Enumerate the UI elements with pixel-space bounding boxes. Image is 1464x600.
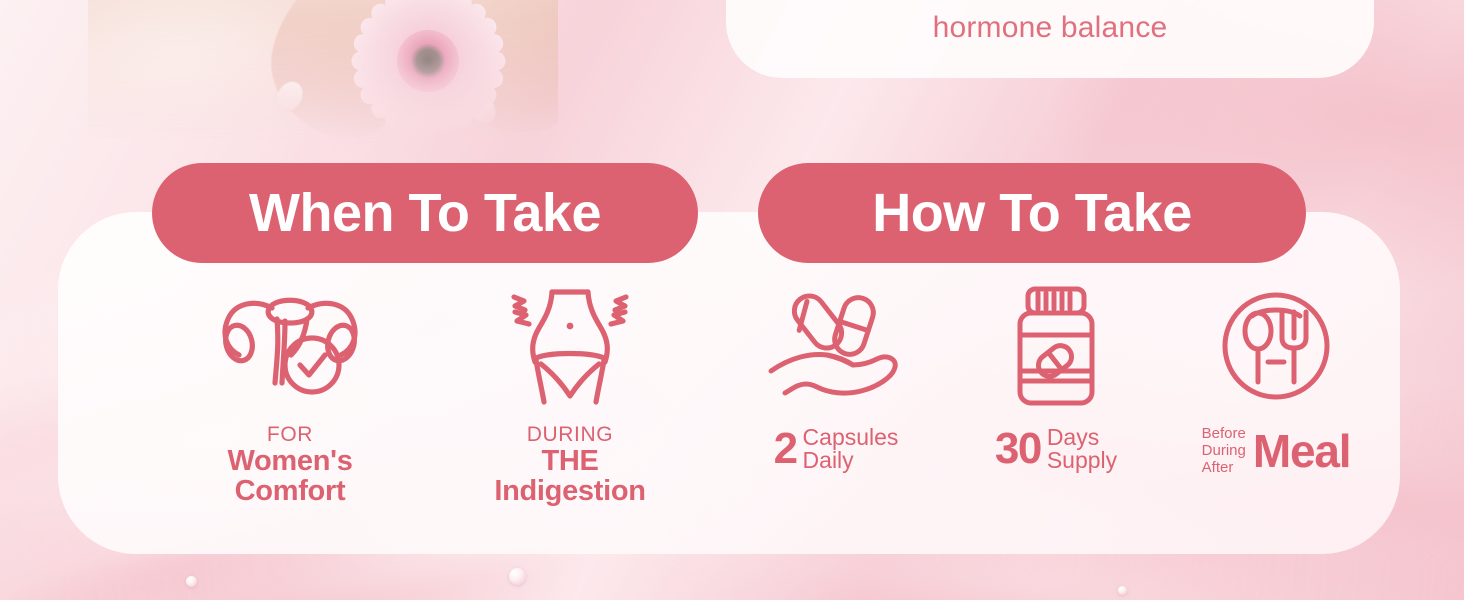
item-capsules-daily: 2 Capsules Daily: [726, 280, 946, 476]
caption-line-2: Women's: [227, 446, 352, 476]
caption-line-1: Days: [1047, 426, 1117, 449]
how-to-take-items: 2 Capsules Daily: [726, 280, 1386, 476]
heading-when-to-take: When To Take: [152, 163, 698, 263]
caption-line-1: Capsules: [803, 426, 899, 449]
caption-line-2: THE: [494, 446, 645, 476]
meal-timing-during: During: [1202, 443, 1246, 460]
caption-the-indigestion: DURING THE Indigestion: [494, 424, 645, 506]
pearl-droplet: [509, 568, 526, 585]
hands-holding-flower-photo: [88, 0, 558, 140]
capsules-count: 2: [774, 427, 797, 471]
heading-how-to-take: How To Take: [758, 163, 1306, 263]
caption-line-1: DURING: [494, 424, 645, 446]
pearl-droplet: [1118, 586, 1127, 595]
meal-timing-before: Before: [1202, 426, 1246, 443]
days-count: 30: [995, 427, 1041, 471]
infographic-banner: hormone balance When To Take How To Take: [0, 0, 1464, 600]
caption-line-2: Supply: [1047, 449, 1117, 472]
caption-line-3: Comfort: [227, 476, 352, 506]
when-to-take-items: FOR Women's Comfort: [150, 280, 710, 506]
caption-days-supply: 30 Days Supply: [995, 426, 1117, 473]
caption-womens-comfort: FOR Women's Comfort: [227, 424, 352, 506]
caption-line-2: Daily: [803, 449, 899, 472]
supplement-bottle-icon: [1004, 280, 1108, 412]
item-days-supply: 30 Days Supply: [946, 280, 1166, 476]
item-womens-comfort: FOR Women's Comfort: [150, 280, 430, 506]
caption-line-1: FOR: [227, 424, 352, 446]
pearl-droplet: [186, 576, 197, 587]
item-meal-timing: Before During After Meal: [1166, 280, 1386, 476]
flower-center-disc: [397, 30, 459, 92]
plate-spoon-fork-icon: [1216, 280, 1336, 412]
gerbera-flower: [344, 0, 512, 140]
meal-timing-after: After: [1202, 460, 1246, 477]
item-the-indigestion: DURING THE Indigestion: [430, 280, 710, 506]
caption-capsules-daily: 2 Capsules Daily: [774, 426, 899, 473]
tagline-hormone-balance: hormone balance: [726, 11, 1374, 45]
meal-label: Meal: [1253, 428, 1350, 474]
uterus-check-icon: [215, 280, 365, 412]
caption-line-3: Indigestion: [494, 476, 645, 506]
torso-indigestion-icon: [495, 280, 645, 412]
caption-meal-timing: Before During After Meal: [1202, 426, 1351, 476]
hand-capsules-icon: [765, 280, 907, 412]
